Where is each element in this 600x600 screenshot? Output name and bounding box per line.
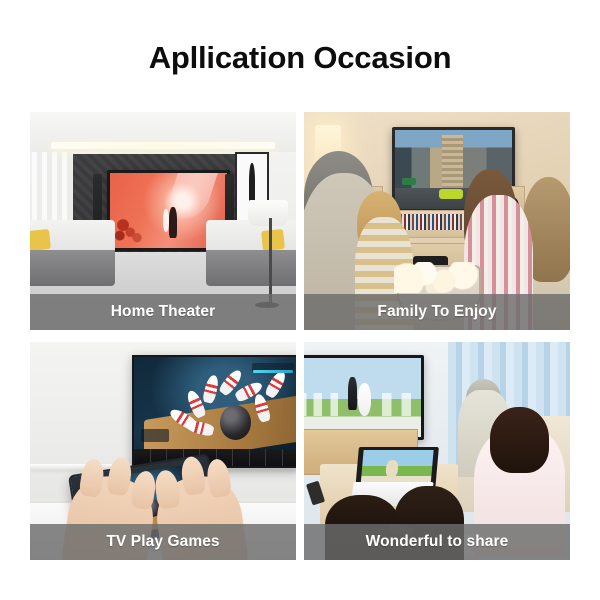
page-title: Apllication Occasion (0, 40, 600, 76)
screen-figure-light (163, 209, 169, 232)
television (304, 355, 424, 439)
sofa-left (30, 220, 115, 286)
panel-home-theater[interactable]: Home Theater (30, 112, 296, 330)
score-cell (283, 449, 296, 466)
tv-image (304, 358, 421, 436)
occasion-grid: Home Theater (30, 112, 570, 560)
bowling-pin (202, 374, 220, 404)
sofa-right (206, 220, 296, 286)
laptop-screen (360, 450, 433, 486)
score-cell (266, 449, 282, 466)
caption-home-theater: Home Theater (30, 294, 296, 330)
screen-figure (169, 207, 177, 239)
caption-wonderful-to-share: Wonderful to share (304, 524, 570, 560)
panel-family-to-enjoy[interactable]: Family To Enjoy (304, 112, 570, 330)
tv-car-yellow (439, 189, 462, 199)
television (132, 355, 296, 468)
score-cell (233, 449, 249, 466)
poster-page: Apllication Occasion (0, 0, 600, 600)
score-cell (250, 449, 266, 466)
game-power-bar (253, 370, 293, 373)
floor-lamp-pole (269, 218, 272, 304)
screen-foliage (115, 202, 155, 244)
sofa-seat (206, 250, 296, 286)
sofa-seat (30, 250, 115, 286)
mother-head (490, 407, 549, 472)
cove-light (51, 142, 274, 149)
tv-bride (358, 383, 371, 416)
tv-groom (348, 377, 357, 410)
caption-tv-play-games: TV Play Games (30, 524, 296, 560)
caption-family-to-enjoy: Family To Enjoy (304, 294, 570, 330)
laptop-photo-subject (385, 460, 399, 478)
bowling-game-screen (134, 357, 296, 466)
panel-wonderful-to-share[interactable]: Wonderful to share (304, 342, 570, 560)
cushion (261, 229, 285, 251)
tv-car-green (402, 178, 416, 185)
panel-tv-play-games[interactable]: TV Play Games (30, 342, 296, 560)
bowling-pin (263, 369, 287, 399)
floor-lamp-shade (248, 200, 288, 226)
cushion (30, 229, 51, 251)
tv-building (442, 135, 463, 191)
game-player-label (141, 429, 169, 442)
popcorn (394, 262, 479, 293)
